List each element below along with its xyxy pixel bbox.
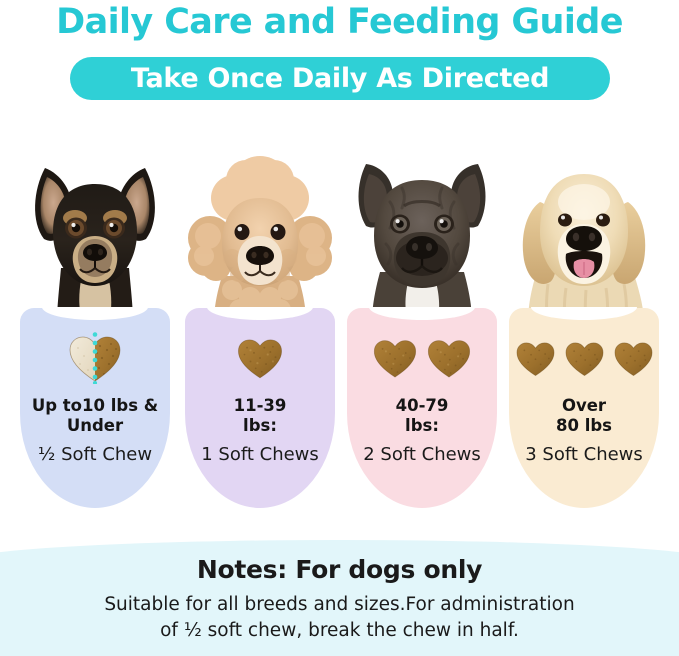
chew-whole-icon	[235, 335, 285, 381]
weight-range-label: Up to10 lbs & Under	[20, 396, 170, 436]
dosage-column-large: 40-79 lbs: 2 Soft Chews	[342, 140, 502, 520]
dose-label: 3 Soft Chews	[505, 444, 663, 465]
dosage-card: Up to10 lbs & Under ½ Soft Chew	[20, 308, 170, 508]
chew-whole-icon	[563, 339, 606, 378]
chew-half-icon	[66, 332, 124, 384]
chew-whole-icon	[425, 336, 473, 380]
dosage-card: 11-39 lbs: 1 Soft Chews	[185, 308, 335, 508]
chew-group	[185, 332, 335, 384]
dog-photo-poodle	[180, 140, 340, 320]
card-notch	[369, 307, 475, 320]
dosage-card: 40-79 lbs: 2 Soft Chews	[347, 308, 497, 508]
chew-whole-icon	[514, 339, 557, 378]
chew-whole-icon	[371, 336, 419, 380]
weight-range-label: Over 80 lbs	[509, 396, 659, 436]
dose-label: 1 Soft Chews	[181, 444, 339, 465]
dosage-column-medium: 11-39 lbs: 1 Soft Chews	[180, 140, 340, 520]
dosage-column-xlarge: Over 80 lbs 3 Soft Chews	[504, 140, 664, 520]
weight-range-label: 40-79 lbs:	[347, 396, 497, 436]
directions-banner-label: Take Once Daily As Directed	[131, 63, 549, 94]
card-notch	[207, 307, 313, 320]
dog-photo-chihuahua	[15, 140, 175, 320]
dog-photo-golden-retriever	[504, 140, 664, 320]
chew-group	[347, 332, 497, 384]
dose-label: ½ Soft Chew	[16, 444, 174, 465]
dose-label: 2 Soft Chews	[343, 444, 501, 465]
dosage-columns: Up to10 lbs & Under ½ Soft Chew	[0, 140, 679, 520]
chew-group	[509, 332, 659, 384]
notes-title: Notes: For dogs only	[0, 555, 679, 584]
dog-photo-french-bulldog	[342, 140, 502, 320]
dosage-column-small: Up to10 lbs & Under ½ Soft Chew	[15, 140, 175, 520]
card-notch	[42, 307, 148, 320]
chew-whole-icon	[612, 339, 655, 378]
notes-body: Suitable for all breeds and sizes.For ad…	[60, 592, 619, 644]
dosage-card: Over 80 lbs 3 Soft Chews	[509, 308, 659, 508]
card-notch	[531, 307, 637, 320]
chew-group	[20, 332, 170, 384]
weight-range-label: 11-39 lbs:	[185, 396, 335, 436]
feeding-guide-page: Daily Care and Feeding Guide Take Once D…	[0, 0, 679, 656]
page-title: Daily Care and Feeding Guide	[0, 2, 679, 42]
directions-banner: Take Once Daily As Directed	[70, 57, 610, 100]
